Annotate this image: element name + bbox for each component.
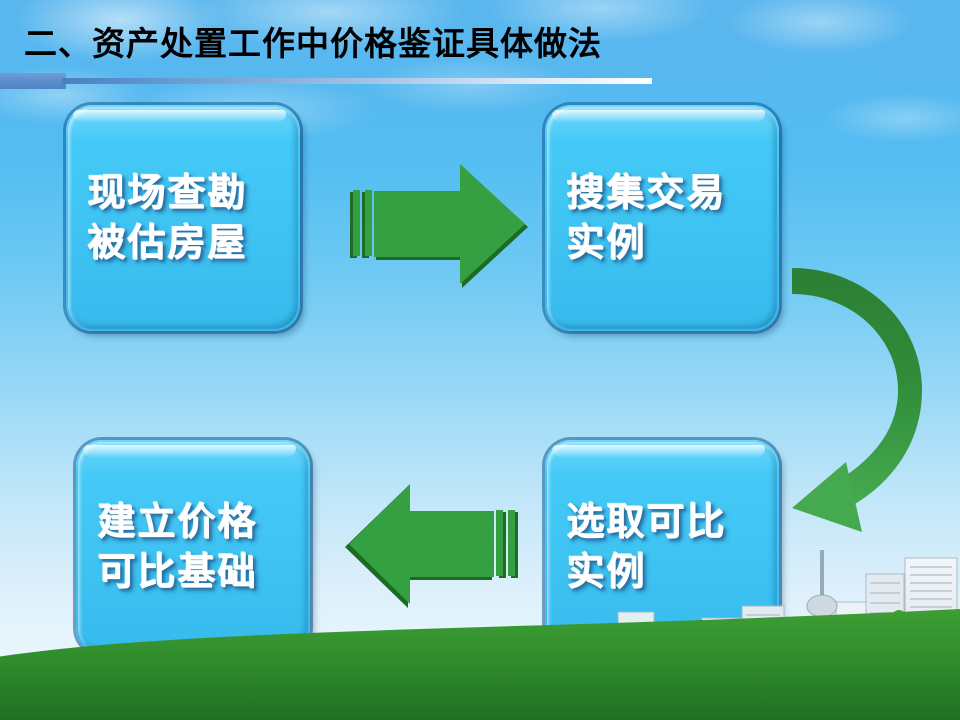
- process-box-survey[interactable]: 现场查勘 被估房屋: [66, 105, 300, 331]
- title-rule-line: [62, 78, 652, 84]
- scenery-footer: [0, 540, 960, 720]
- process-box-collect[interactable]: 搜集交易 实例: [545, 105, 779, 331]
- green-hill: [0, 608, 960, 720]
- box-gloss-highlight: [83, 445, 296, 457]
- box-gloss-highlight: [73, 110, 286, 122]
- slide-canvas: 二、资产处置工作中价格鉴证具体做法 现场查勘 被估房屋 搜集交易 实例 选取可比…: [0, 0, 960, 720]
- box-gloss-highlight: [552, 445, 765, 457]
- arrow-right-icon: [340, 160, 540, 290]
- process-box-survey-label: 现场查勘 被估房屋: [88, 168, 288, 268]
- process-box-collect-label: 搜集交易 实例: [567, 168, 767, 268]
- cityscape-illustration: [0, 540, 960, 720]
- arrow-curved-icon: [770, 250, 960, 550]
- title-rule-block: [0, 73, 66, 89]
- box-gloss-highlight: [552, 110, 765, 122]
- page-title: 二、资产处置工作中价格鉴证具体做法: [24, 24, 602, 64]
